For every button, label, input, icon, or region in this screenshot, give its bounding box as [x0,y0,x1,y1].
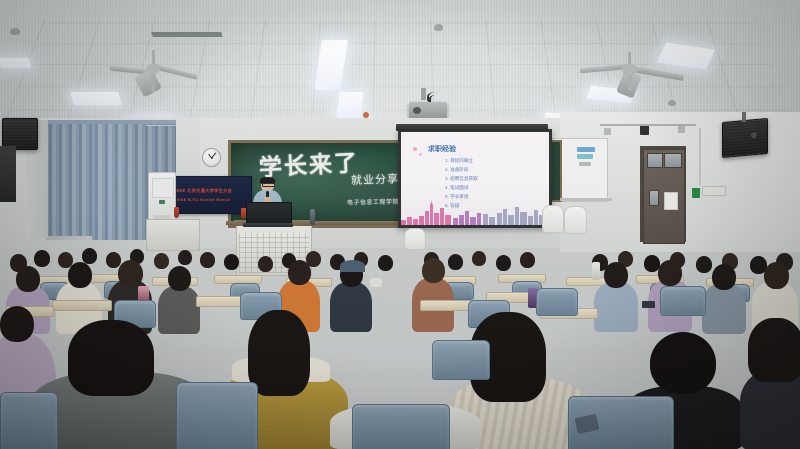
door-window-lower [649,190,659,206]
banner-chinese-text: IEEE 北京交通大学学生分会 [175,188,232,194]
slide-title: 求职经验 [428,144,456,154]
chair-back-mid-left [0,392,58,449]
white-bottle [592,262,600,280]
whiteboard-note-gray [579,162,591,166]
fan-hub [146,64,160,74]
ceiling-light-4 [0,58,31,68]
slide-item-4: 4. 笔试面试 [445,185,468,191]
water-dispenser [148,172,176,224]
audience-head [748,318,800,382]
projector-lens [413,107,421,114]
chair-back-near-center [352,404,450,449]
wall-clock [202,148,221,167]
blackboard-footnote: 电子信息工程学院 [347,197,399,207]
speaker-bracket-right [742,112,746,122]
ceiling-vent [151,32,223,37]
wall-bracket-a [604,128,611,135]
ceiling-detector-center [434,24,443,31]
audience-head [68,262,92,288]
fan-downrod [628,75,632,91]
slide-item-3: 3. 招聘信息获取 [445,176,478,182]
speaker-grill [3,119,37,149]
audience-head [658,260,682,286]
speaker-grill [723,119,767,157]
audience-head [288,260,311,285]
slide-decor-dot [419,153,422,156]
slide-item-1: 1. 目标的确立 [445,158,473,164]
door-notice [664,192,678,210]
projector-mount [421,88,426,100]
slide-content: 求职经验 1. 目标的确立 2. 准备阶段 3. 招聘信息获取 4. 笔试面试 … [401,132,549,225]
wall-outlet[interactable] [702,186,726,196]
audience-face-mask [370,278,382,287]
audience-head [168,266,191,291]
blackboard-headline: 学长来了 [258,150,359,181]
audience-head [118,260,143,287]
banner-english-text: IEEE BJTU Student Branch [177,198,231,202]
audience-cap [340,260,365,272]
slide-item-2: 2. 准备阶段 [445,167,468,173]
lecture-hall-photo: 学长来了 就业分享会 电子信息工程学院 求职经验 1. 目标的确立 2. 准备阶… [0,0,800,449]
wall-trim [560,198,612,201]
chair-back-near-left [176,382,258,449]
audience-head [248,310,310,396]
wall-bracket-b [678,126,685,133]
dispenser-panel [152,178,174,198]
ceiling-fan-right [580,52,690,100]
ceiling-detector-right [668,100,676,106]
wall-conduit [699,128,701,186]
ceiling-fan-left [120,50,210,95]
ceiling-pipe-right [600,124,696,126]
dispenser-tap [159,200,165,204]
fan-rod [628,52,631,64]
projection-screen: 求职经验 1. 目标的确立 2. 准备阶段 3. 招聘信息获取 4. 笔试面试 … [398,129,552,228]
slide-decor-dot [413,147,417,151]
clock-center [211,157,213,159]
exit-sign [692,188,700,198]
chair-back-mid-right [432,340,490,380]
wall-speaker-right [722,118,768,158]
whiteboard-note-teal [577,154,593,159]
whiteboard-note-blue [577,147,595,152]
ceiling-light-5 [70,92,121,105]
audience-head [0,306,34,342]
ceiling-detector-left [10,28,20,35]
audience-head [712,264,736,290]
fan-downrod [151,74,155,92]
ceiling-projector [405,88,451,122]
ieee-branch-banner: IEEE 北京交通大学学生分会 IEEE BJTU Student Branch [168,176,252,214]
audience-head [764,262,789,289]
fan-hub [622,64,638,75]
audience-head [422,258,445,283]
fan-rod [152,50,155,64]
speaker-bracket-left [0,146,16,202]
audience-head [650,332,716,394]
door-window-upper-left [647,153,663,168]
audience-head [604,262,628,288]
red-bottle-on-ledge [174,207,179,218]
ceiling-light-2 [336,92,363,118]
presenter-glasses [262,183,275,187]
audience-head [68,320,154,396]
door-window-upper-right [664,153,682,168]
audience-head [16,266,40,292]
screen-roller-case [396,124,548,131]
